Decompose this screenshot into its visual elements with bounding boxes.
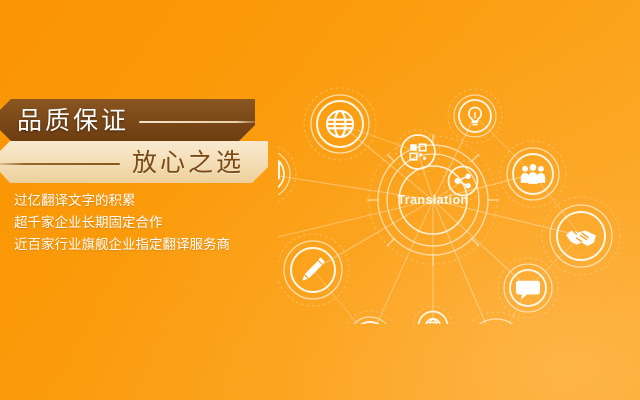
node-monitor <box>460 312 532 324</box>
ribbon-title-top: 品质保证 <box>17 108 129 133</box>
pencil-icon <box>303 257 325 280</box>
claim-line: 过亿翻译文字的积累 <box>14 190 314 212</box>
network-hub: Translation <box>367 134 499 266</box>
node-globe <box>304 88 376 160</box>
book-icon <box>278 163 279 184</box>
people-group-icon <box>521 164 545 184</box>
claim-line: 近百家行业旗舰企业指定翻译服务商 <box>14 234 314 256</box>
lightbulb-icon <box>469 107 481 124</box>
ribbon-rule-bottom <box>0 163 120 165</box>
ribbon-bottom-bar: 放心之选 <box>0 141 268 183</box>
claims-list: 过亿翻译文字的积累 超千家企业长期固定合作 近百家行业旗舰企业指定翻译服务商 <box>14 190 314 256</box>
speech-bubble-icon <box>516 281 540 299</box>
node-document <box>342 311 398 324</box>
claim-line: 超千家企业长期固定合作 <box>14 212 314 234</box>
ribbon-top-bar: 品质保证 <box>0 99 255 141</box>
ribbon-title-bottom: 放心之选 <box>132 150 244 175</box>
translation-network-graphic: Translation <box>278 76 640 324</box>
globe-icon <box>327 111 353 137</box>
headline-ribbon: 品质保证 放心之选 <box>0 99 268 183</box>
ribbon-rule-top <box>139 121 261 123</box>
handshake-icon <box>566 230 596 247</box>
banner-root: Translation <box>0 0 640 400</box>
